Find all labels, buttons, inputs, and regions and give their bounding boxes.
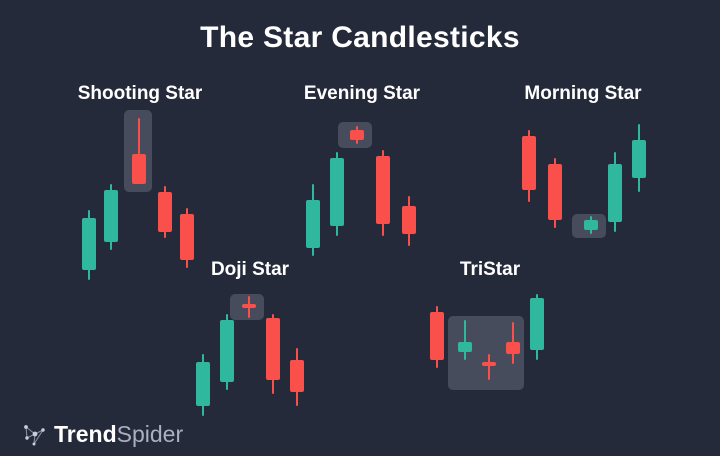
pattern-title-shooting-star: Shooting Star: [40, 82, 240, 106]
candle-body: [482, 362, 496, 366]
candle-wick: [488, 354, 490, 380]
candle-body: [350, 130, 364, 140]
candle-wick: [464, 320, 466, 360]
candle-body: [376, 156, 390, 224]
candle-doji-star-candle-2: [220, 294, 234, 404]
brand-logo: TrendSpider: [22, 419, 183, 449]
candle-morning-star-candle-3-star: [584, 122, 598, 252]
candle-body: [290, 360, 304, 392]
candle-body: [242, 304, 256, 308]
candle-body: [522, 136, 536, 190]
candle-body: [220, 320, 234, 382]
candle-body: [132, 154, 146, 184]
pattern-doji-star: Doji Star: [160, 258, 340, 398]
candlestick-plot-morning-star: [516, 122, 646, 252]
candle-doji-star-candle-3-star: [242, 294, 256, 404]
candle-evening-star-candle-5: [402, 122, 416, 252]
candle-morning-star-candle-1: [522, 122, 536, 252]
candle-evening-star-candle-2: [330, 122, 344, 252]
pattern-title-morning-star: Morning Star: [488, 82, 678, 106]
candle-shooting-star-candle-3-star: [132, 110, 146, 252]
candle-shooting-star-candle-5: [180, 110, 194, 252]
candle-body: [506, 342, 520, 354]
candle-evening-star-candle-4: [376, 122, 390, 252]
candle-evening-star-candle-3-star: [350, 122, 364, 252]
candle-body: [330, 158, 344, 226]
candle-body: [402, 206, 416, 234]
candle-body: [584, 220, 598, 230]
candle-tristar-candle-5: [530, 294, 544, 404]
candle-shooting-star-candle-2: [104, 110, 118, 252]
candle-shooting-star-candle-4: [158, 110, 172, 252]
candle-body: [180, 214, 194, 260]
candle-body: [82, 218, 96, 270]
candle-evening-star-candle-1: [306, 122, 320, 252]
candle-tristar-candle-3-star: [482, 294, 496, 404]
pattern-title-doji-star: Doji Star: [160, 258, 340, 282]
candle-tristar-candle-1: [430, 294, 444, 404]
candle-tristar-candle-2-star: [458, 294, 472, 404]
candle-morning-star-candle-5: [632, 122, 646, 252]
pattern-evening-star: Evening Star: [272, 82, 452, 252]
candle-shooting-star-candle-1: [82, 110, 96, 252]
pattern-morning-star: Morning Star: [488, 82, 678, 252]
brand-name-light: Spider: [117, 421, 183, 447]
pattern-shooting-star: Shooting Star: [40, 82, 240, 252]
candle-doji-star-candle-4: [266, 294, 280, 404]
candle-body: [266, 318, 280, 380]
infographic-canvas: The Star Candlesticks Shooting StarEveni…: [0, 0, 720, 456]
candle-body: [548, 164, 562, 220]
brand-name-bold: Trend: [54, 421, 117, 447]
candlestick-plot-evening-star: [302, 122, 422, 252]
candlestick-plot-doji-star: [192, 294, 312, 404]
spider-web-nodes-icon: [22, 421, 48, 447]
candle-body: [306, 200, 320, 248]
candlestick-plot-tristar: [422, 294, 552, 404]
candle-morning-star-candle-4: [608, 122, 622, 252]
candlestick-plot-shooting-star: [78, 110, 198, 252]
candle-body: [104, 190, 118, 242]
pattern-tristar: TriStar: [400, 258, 580, 398]
pattern-title-evening-star: Evening Star: [272, 82, 452, 106]
candle-body: [430, 312, 444, 360]
candle-body: [196, 362, 210, 406]
candle-tristar-candle-4-star: [506, 294, 520, 404]
candle-doji-star-candle-1: [196, 294, 210, 404]
candle-body: [632, 140, 646, 178]
candle-body: [608, 164, 622, 222]
pattern-title-tristar: TriStar: [400, 258, 580, 282]
candle-doji-star-candle-5: [290, 294, 304, 404]
candle-body: [458, 342, 472, 352]
candle-body: [530, 298, 544, 350]
candle-morning-star-candle-2: [548, 122, 562, 252]
brand-name: TrendSpider: [54, 421, 183, 447]
candle-body: [158, 192, 172, 232]
page-title: The Star Candlesticks: [0, 20, 720, 56]
